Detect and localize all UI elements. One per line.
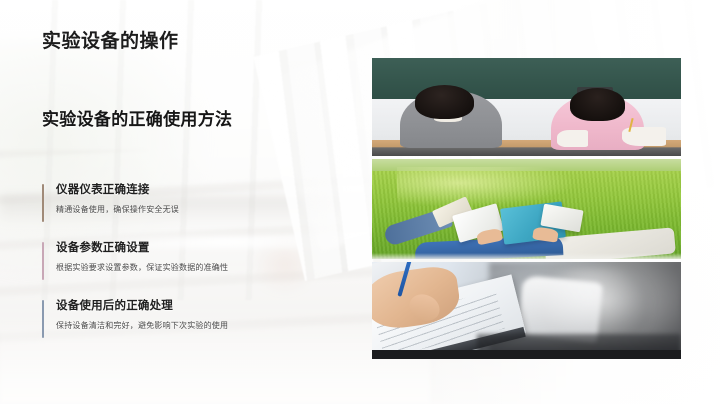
list-item[interactable]: 仪器仪表正确连接 精通设备使用，确保操作安全无误 (42, 182, 342, 216)
bullet-description: 保持设备清洁和完好，避免影响下次实验的使用 (56, 320, 342, 332)
bullet-description: 精通设备使用，确保操作安全无误 (56, 204, 342, 216)
hand-writing-notes-photo (372, 262, 681, 359)
grass-bottom-fade (372, 253, 681, 259)
bullet-heading: 设备参数正确设置 (56, 240, 342, 256)
section-title: 实验设备的正确使用方法 (42, 105, 232, 130)
list-item[interactable]: 设备参数正确设置 根据实验要求设置参数，保证实验数据的准确性 (42, 240, 342, 274)
accent-bar-1 (42, 184, 44, 222)
accent-bar-2 (42, 242, 44, 280)
sunlight-glow (397, 167, 576, 207)
bullet-description: 根据实验要求设置参数，保证实验数据的准确性 (56, 262, 342, 274)
presentation-slide: 实验设备的操作 实验设备的正确使用方法 仪器仪表正确连接 精通设备使用，确保操作… (0, 0, 720, 404)
accent-bar-3 (42, 300, 44, 338)
student-head-left (415, 85, 474, 118)
photo-stack (372, 58, 681, 361)
photo-bottom-strip (372, 350, 681, 359)
student-head-right (570, 88, 626, 120)
list-item[interactable]: 设备使用后的正确处理 保持设备清洁和完好，避免影响下次实验的使用 (42, 298, 342, 332)
reading-on-grass-photo (372, 159, 681, 259)
classroom-students-photo (372, 58, 681, 156)
bullet-list: 仪器仪表正确连接 精通设备使用，确保操作安全无误 设备参数正确设置 根据实验要求… (42, 182, 342, 332)
page-title: 实验设备的操作 (42, 26, 179, 53)
student-arm-left (557, 130, 588, 148)
bullet-heading: 设备使用后的正确处理 (56, 298, 342, 314)
text-column: 实验设备的操作 实验设备的正确使用方法 仪器仪表正确连接 精通设备使用，确保操作… (0, 0, 370, 404)
bullet-heading: 仪器仪表正确连接 (56, 182, 342, 198)
